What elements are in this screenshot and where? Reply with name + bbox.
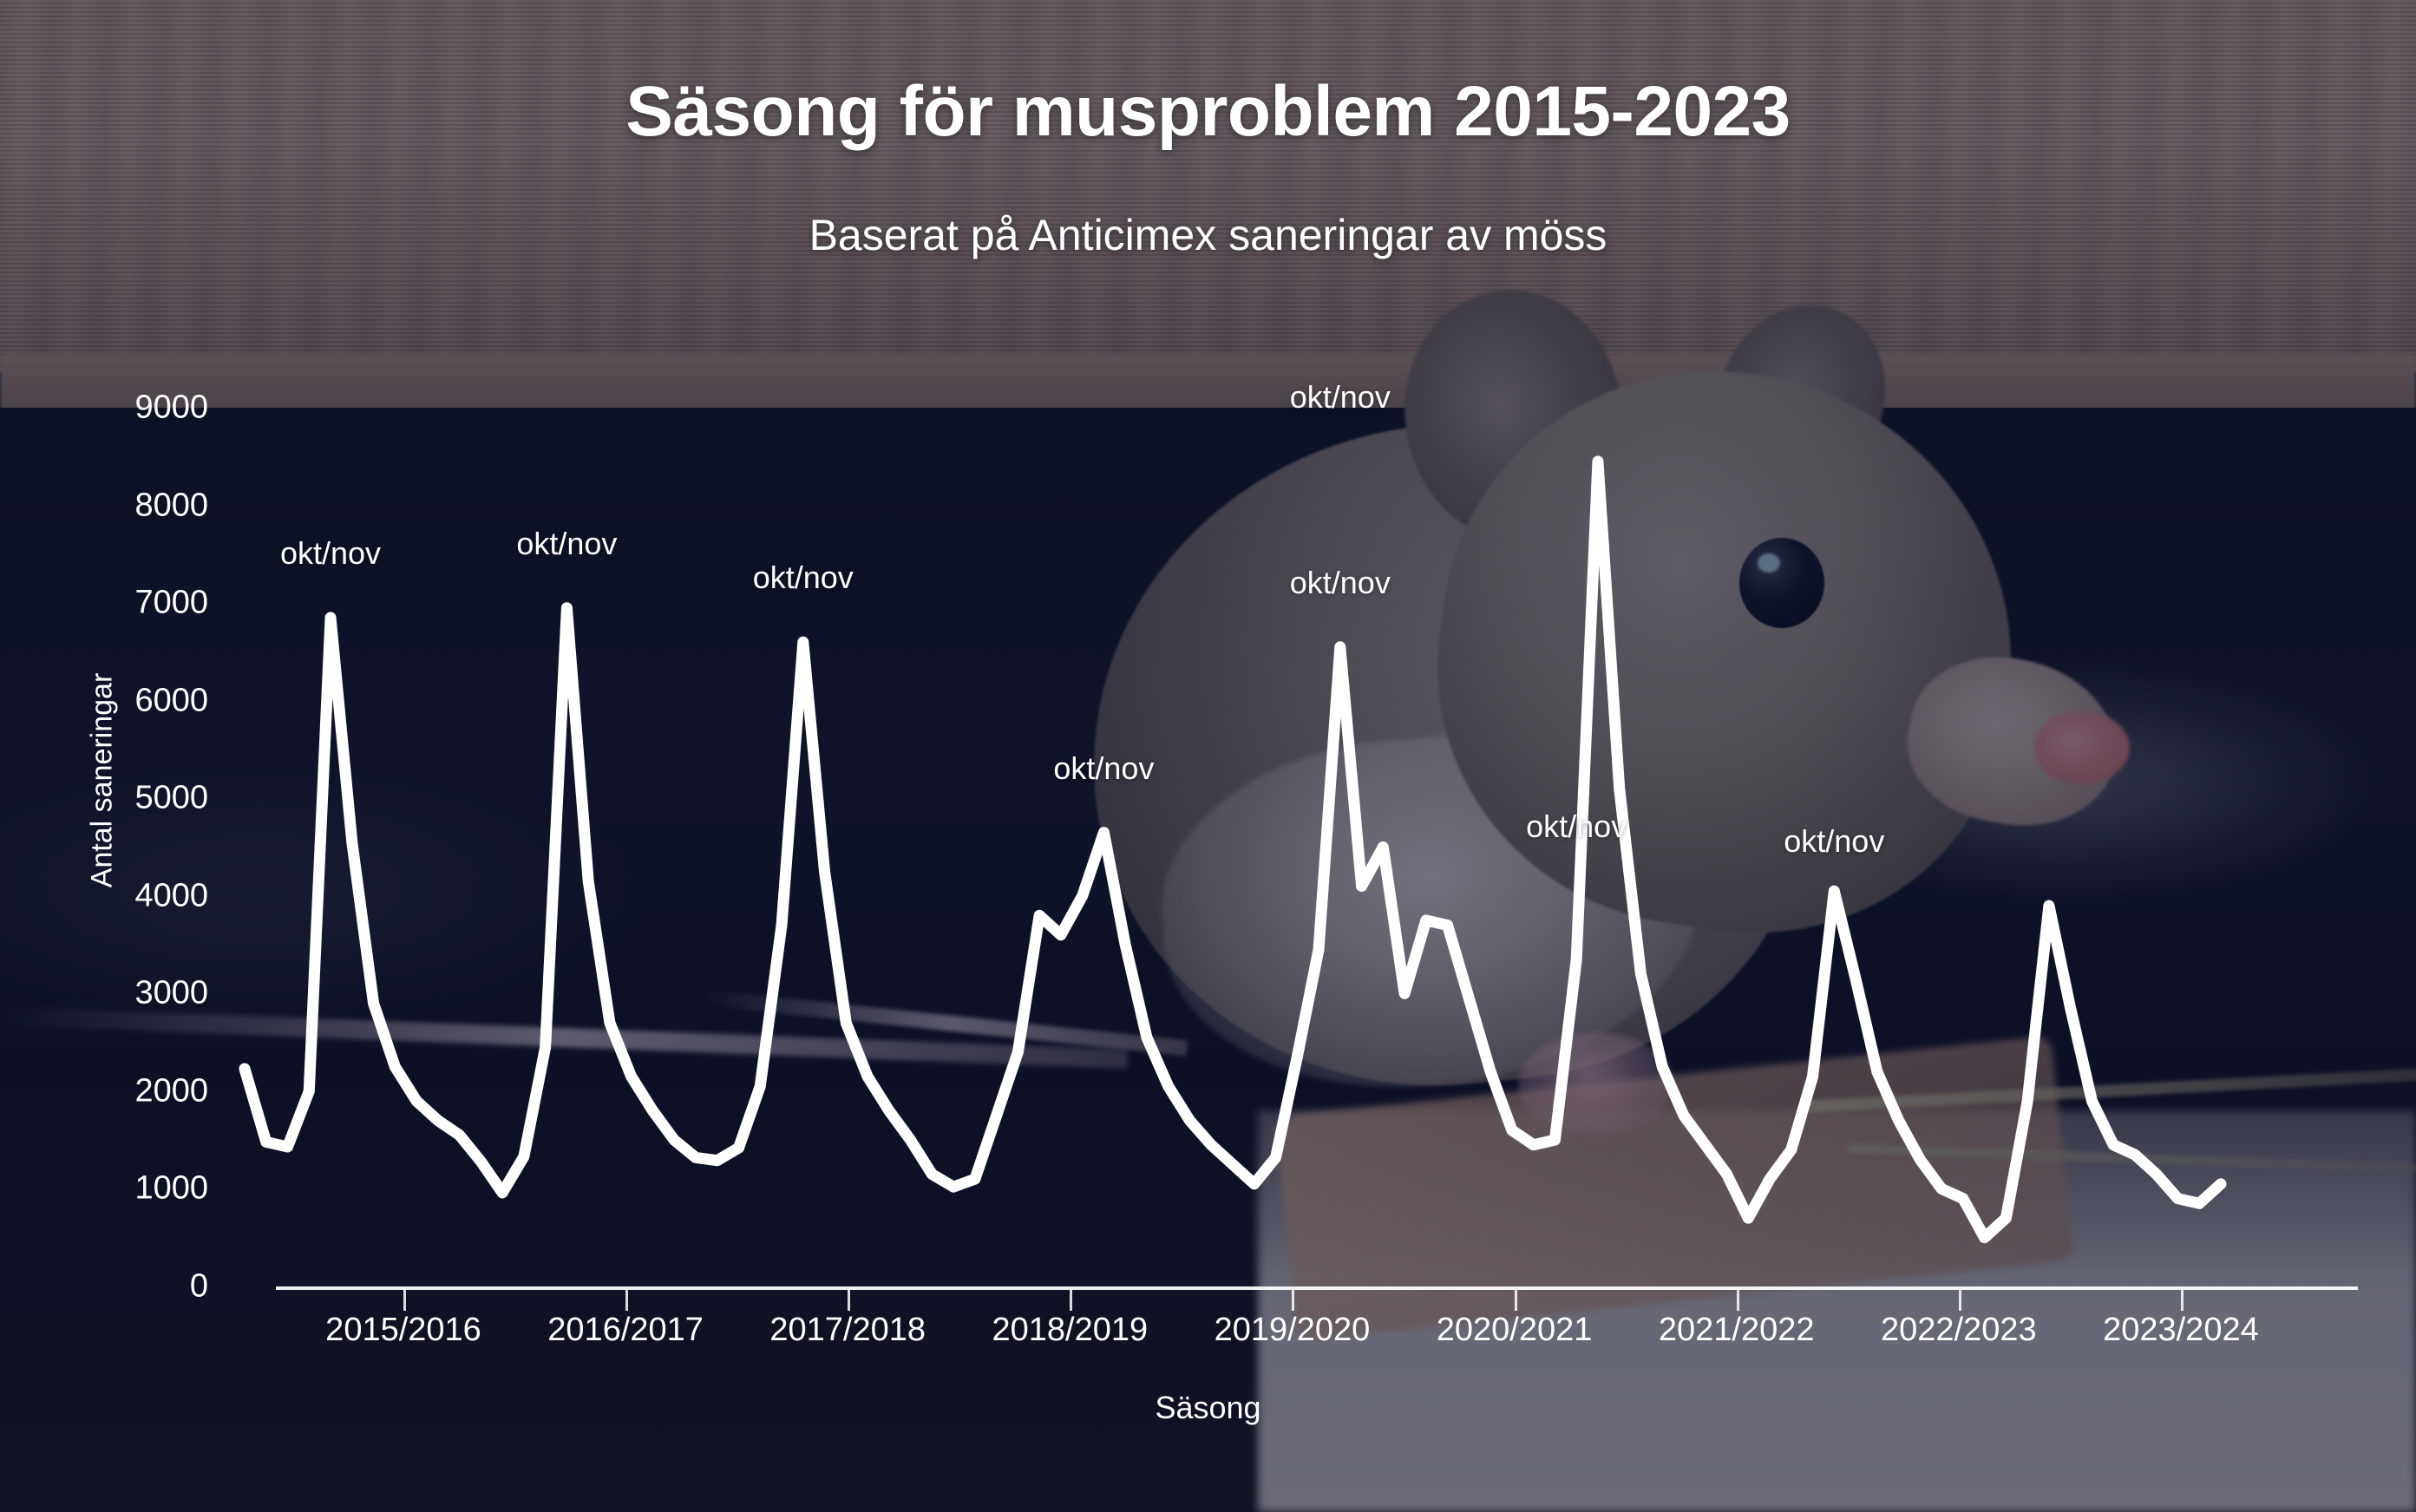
x-tick-label: 2017/2018 bbox=[769, 1312, 926, 1349]
x-tick-label: 2022/2023 bbox=[1881, 1312, 2037, 1349]
infographic-canvas: Säsong för musproblem 2015-2023 Baserat … bbox=[0, 0, 2416, 1512]
series-line-antal-saneringar bbox=[0, 0, 2416, 1512]
x-tick-mark bbox=[1737, 1288, 1739, 1311]
x-tick-label: 2016/2017 bbox=[547, 1312, 704, 1349]
x-axis-title: Säsong bbox=[0, 1390, 2416, 1426]
line-chart: Antal saneringar 90008000700060005000400… bbox=[0, 0, 2416, 1512]
x-tick-mark bbox=[403, 1288, 406, 1311]
annotation-okt-nov: okt/nov bbox=[516, 526, 617, 562]
x-tick-label: 2021/2022 bbox=[1659, 1312, 1815, 1349]
x-tick-mark bbox=[1292, 1288, 1294, 1311]
annotation-okt-nov: okt/nov bbox=[1784, 823, 1884, 860]
x-tick-label: 2018/2019 bbox=[992, 1312, 1149, 1349]
x-tick-label: 2020/2021 bbox=[1437, 1312, 1593, 1349]
x-tick-mark bbox=[848, 1288, 850, 1311]
x-axis-line bbox=[276, 1286, 2358, 1290]
x-tick-mark bbox=[625, 1288, 628, 1311]
x-tick-label: 2023/2024 bbox=[2103, 1312, 2259, 1349]
x-tick-label: 2015/2016 bbox=[325, 1312, 481, 1349]
annotation-okt-nov: okt/nov bbox=[280, 535, 381, 572]
x-tick-mark bbox=[2181, 1288, 2184, 1311]
x-tick-mark bbox=[1070, 1288, 1072, 1311]
x-tick-mark bbox=[1515, 1288, 1517, 1311]
x-tick-label: 2019/2020 bbox=[1215, 1312, 1371, 1349]
annotation-okt-nov: okt/nov bbox=[1290, 379, 1391, 416]
annotation-okt-nov: okt/nov bbox=[1526, 808, 1627, 845]
x-tick-mark bbox=[1959, 1288, 1961, 1311]
annotation-okt-nov: okt/nov bbox=[753, 560, 854, 596]
annotation-okt-nov: okt/nov bbox=[1290, 565, 1391, 601]
annotation-okt-nov: okt/nov bbox=[1053, 750, 1154, 787]
